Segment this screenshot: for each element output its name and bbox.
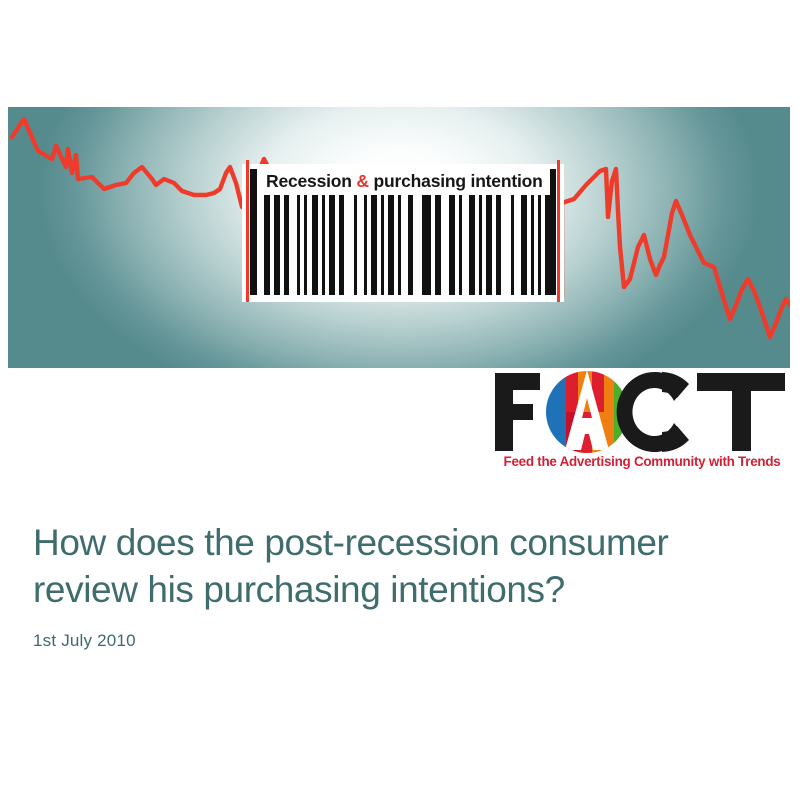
barcode-bar (496, 195, 501, 295)
barcode-bar (388, 195, 394, 295)
barcode-bar (538, 195, 541, 295)
barcode-bar (339, 195, 344, 295)
barcode-title-ampersand: & (356, 171, 368, 191)
fact-letter-f (495, 373, 540, 451)
barcode-bar (354, 195, 357, 295)
barcode-bar (381, 195, 384, 295)
barcode-bar (469, 195, 475, 295)
barcode-accent-right (557, 160, 560, 302)
barcode-bar (364, 195, 367, 295)
fact-wordmark (489, 368, 792, 454)
fact-letter-t (697, 373, 785, 451)
barcode-bar (371, 195, 377, 295)
trendline-right (562, 169, 790, 337)
hero-banner: Recession & purchasing intention (8, 107, 790, 368)
barcode-bar (312, 195, 318, 295)
barcode-bar (274, 195, 280, 295)
barcode-title-part-1: Recession (266, 171, 352, 191)
slide-date: 1st July 2010 (33, 631, 763, 651)
barcode-bar (486, 195, 492, 295)
barcode-bar (329, 195, 335, 295)
page-title-line-1: How does the post-recession consumer (33, 519, 763, 566)
barcode-bars (250, 195, 556, 295)
page-title-line-2: review his purchasing intentions? (33, 566, 763, 613)
barcode-bar (449, 195, 455, 295)
barcode-bar (531, 195, 534, 295)
fact-tagline: Feed the Advertising Community with Tren… (492, 454, 792, 469)
barcode-bar (398, 195, 401, 295)
barcode-bar (435, 195, 441, 295)
barcode-bar (521, 195, 527, 295)
title-block: How does the post-recession consumer rev… (33, 519, 763, 651)
fact-logo: Feed the Advertising Community with Tren… (489, 368, 792, 478)
page-title: How does the post-recession consumer rev… (33, 519, 763, 613)
barcode-bar (422, 195, 431, 295)
barcode-bar (408, 195, 413, 295)
barcode-bar (304, 195, 307, 295)
barcode-bar (284, 195, 289, 295)
barcode-bar (479, 195, 482, 295)
barcode-panel: Recession & purchasing intention (242, 164, 564, 302)
trendline-left (12, 119, 268, 297)
barcode-title-part-2: purchasing intention (374, 171, 543, 191)
fact-letter-c (617, 372, 689, 452)
slide-root: Recession & purchasing intention (0, 0, 800, 800)
barcode-bar (264, 195, 270, 295)
barcode-guard-right (550, 169, 556, 295)
barcode-guard-left (250, 169, 257, 295)
barcode-bar (297, 195, 300, 295)
barcode-bar (322, 195, 325, 295)
barcode-bar (511, 195, 514, 295)
barcode-title-text: Recession & purchasing intention (266, 169, 543, 193)
barcode-bar (459, 195, 462, 295)
barcode-accent-left (246, 160, 249, 302)
